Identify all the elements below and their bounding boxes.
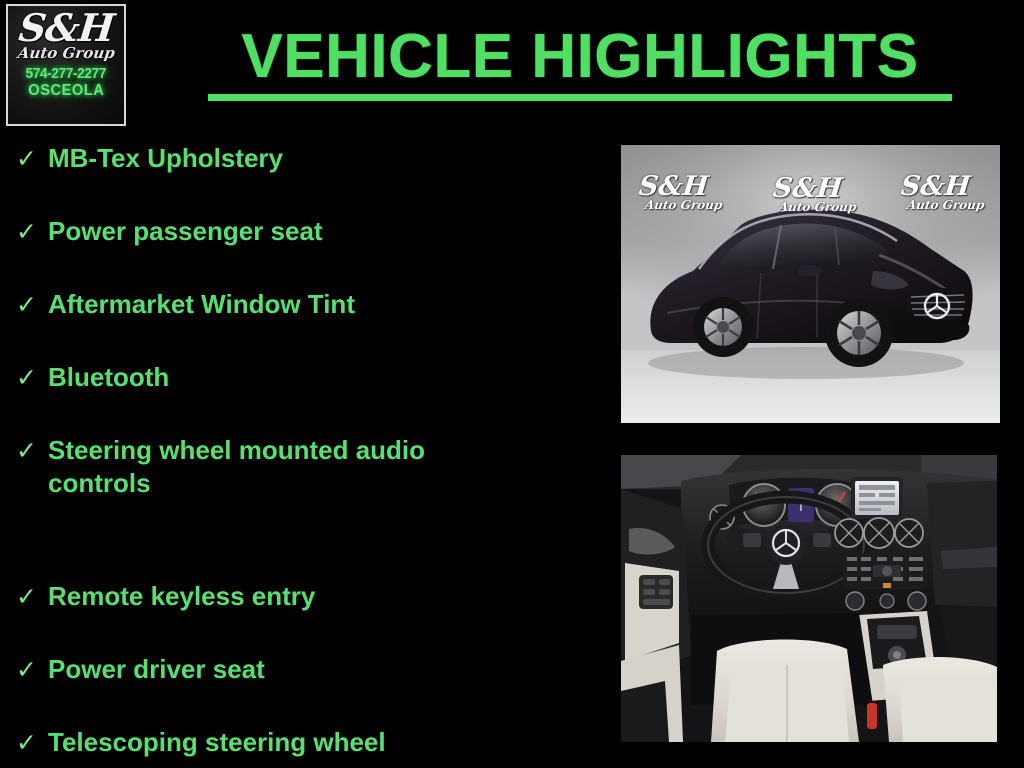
list-item: ✓ Telescoping steering wheel [10,726,570,768]
page-title-block: VEHICLE HIGHLIGHTS [150,26,1010,101]
check-icon: ✓ [10,580,48,612]
list-item: ✓ Power passenger seat [10,215,570,288]
list-item-label: Bluetooth [48,361,169,394]
list-item: ✓ Aftermarket Window Tint [10,288,570,361]
check-icon: ✓ [10,361,48,393]
list-item: ✓ Power driver seat [10,653,570,726]
check-icon: ✓ [10,215,48,247]
list-item: ✓ Remote keyless entry [10,580,570,653]
check-icon: ✓ [10,726,48,758]
list-item-label: Steering wheel mounted audio controls [48,434,528,500]
list-item-label: Power driver seat [48,653,265,686]
list-item-label: Remote keyless entry [48,580,315,613]
dealer-logo-content: S&H Auto Group 574-277-2277 OSCEOLA [8,6,124,124]
page-title: VEHICLE HIGHLIGHTS [150,26,1010,88]
list-item-label: Power passenger seat [48,215,323,248]
vehicle-exterior-photo: S&H Auto Group S&H Auto Group S&H Auto G… [621,145,1000,423]
dealer-logo-city: OSCEOLA [28,82,104,100]
list-item: ✓ Bluetooth [10,361,570,434]
dealer-logo-name: S&H [17,10,115,46]
list-item-label: MB-Tex Upholstery [48,142,283,175]
vehicle-interior-photo: T [621,455,997,742]
list-item: ✓ Steering wheel mounted audio controls [10,434,570,580]
check-icon: ✓ [10,142,48,174]
vehicle-exterior-illustration [621,145,1000,423]
vehicle-interior-illustration: T [621,455,997,742]
list-item: ✓ MB-Tex Upholstery [10,142,570,215]
dealer-logo: S&H Auto Group 574-277-2277 OSCEOLA [6,4,126,126]
vehicle-highlights-list: ✓ MB-Tex Upholstery ✓ Power passenger se… [10,142,570,768]
check-icon: ✓ [10,288,48,320]
title-underline [208,94,952,101]
dealer-logo-tagline: Auto Group [16,44,115,62]
list-item-label: Telescoping steering wheel [48,726,386,759]
check-icon: ✓ [10,653,48,685]
dealer-logo-phone: 574-277-2277 [26,65,106,82]
check-icon: ✓ [10,434,48,466]
list-item-label: Aftermarket Window Tint [48,288,355,321]
